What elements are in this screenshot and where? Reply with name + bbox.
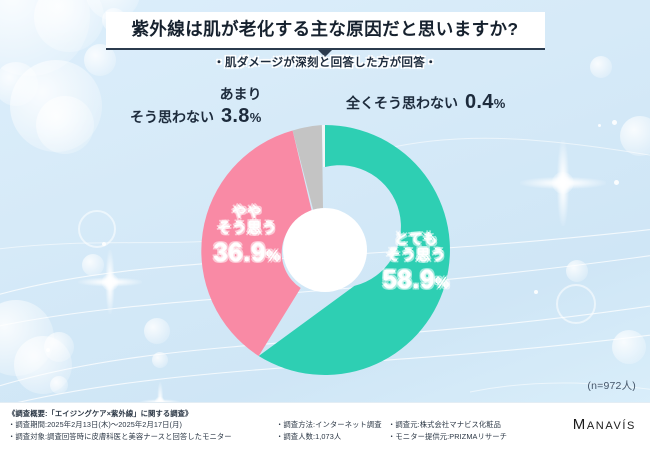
pie-chart: やや そう思う 36.9% とても そう思う 58.9% あまり そう思わない … <box>0 0 650 450</box>
survey-count: ・調査人数:1,073人 <box>276 431 388 442</box>
survey-target: ・調査対象:調査回答時に皮膚科医と美容ナースと回答したモニター <box>8 431 276 442</box>
slice-label-yaya-line2: そう思う <box>188 221 306 237</box>
slice-value-totemo: 58.9% <box>352 265 480 294</box>
infographic-canvas: 紫外線は肌が老化する主な原因だと思いますか? ・肌ダメージが深刻と回答した方が回… <box>0 0 650 450</box>
footer-band: 《調査概要:「エイジングケア×紫外線」に関する調査》 ・調査期間:2025年2月… <box>0 402 650 450</box>
slice-label-totemo-line1: とても <box>352 232 480 248</box>
survey-source: ・調査元:株式会社マナビス化粧品 <box>388 419 538 430</box>
survey-overview-title: 《調査概要:「エイジングケア×紫外線」に関する調査》 <box>8 408 538 419</box>
slice-label-zenku: 全くそう思わない 0.4% <box>346 90 506 116</box>
slice-value-zenku: 0.4% <box>465 90 506 116</box>
survey-method: ・調査方法:インターネット調査 <box>276 419 388 430</box>
sample-size-note: (n=972人) <box>587 378 636 393</box>
slice-label-yaya: やや そう思う 36.9% <box>188 205 306 268</box>
slice-label-zenku-line2: 全くそう思わない <box>346 95 458 113</box>
survey-detail-row: ・調査期間:2025年2月13日(木)〜2025年2月17日(月) ・調査方法:… <box>8 419 538 430</box>
slice-label-totemo: とても そう思う 58.9% <box>352 232 480 295</box>
survey-detail-row: ・調査対象:調査回答時に皮膚科医と美容ナースと回答したモニター ・調査人数:1,… <box>8 431 538 442</box>
slice-value-yaya: 36.9% <box>188 238 306 267</box>
slice-label-amari-line2: そう思わない <box>130 109 214 127</box>
survey-overview-block: 《調査概要:「エイジングケア×紫外線」に関する調査》 ・調査期間:2025年2月… <box>8 408 538 442</box>
manavis-logo: Manavís <box>573 416 636 433</box>
slice-label-yaya-line1: やや <box>188 205 306 221</box>
slice-value-amari: 3.8% <box>221 104 262 130</box>
survey-period: ・調査期間:2025年2月13日(木)〜2025年2月17日(月) <box>8 419 276 430</box>
slice-label-amari-line1: あまり <box>130 86 262 104</box>
monitor-provider: ・モニター提供元:PRIZMAリサーチ <box>388 431 538 442</box>
slice-label-amari: あまり そう思わない 3.8% <box>130 86 262 130</box>
slice-label-totemo-line2: そう思う <box>352 248 480 264</box>
